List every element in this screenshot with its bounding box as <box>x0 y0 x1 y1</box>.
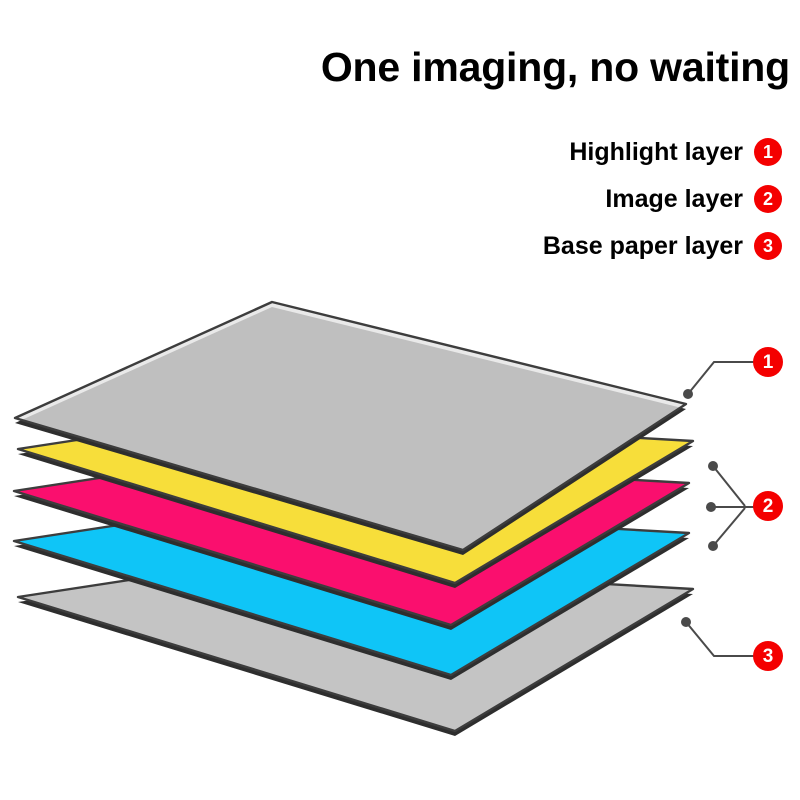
layer-diagram-canvas: One imaging, no waiting Highlight layer … <box>0 0 800 800</box>
exploded-layer-stack <box>0 0 800 800</box>
callout-leader-line-3 <box>686 622 755 656</box>
callout-leader-2 <box>706 461 755 551</box>
callout-badge-1: 1 <box>753 347 783 377</box>
callout-anchor-dot-3 <box>681 617 691 627</box>
callout-leader-line-2-yellow <box>713 466 745 506</box>
callout-leader-3 <box>681 617 755 656</box>
callout-badge-3: 3 <box>753 641 783 671</box>
callout-anchor-dot-2-cyan <box>708 541 718 551</box>
callout-anchor-dot-1 <box>683 389 693 399</box>
callout-leader-line-1 <box>688 362 755 394</box>
callout-anchor-dot-2-magenta <box>706 502 716 512</box>
callout-anchor-dot-2-yellow <box>708 461 718 471</box>
callout-badge-2: 2 <box>753 491 783 521</box>
callout-leader-line-2-cyan <box>713 508 745 546</box>
callout-leader-1 <box>683 362 755 399</box>
